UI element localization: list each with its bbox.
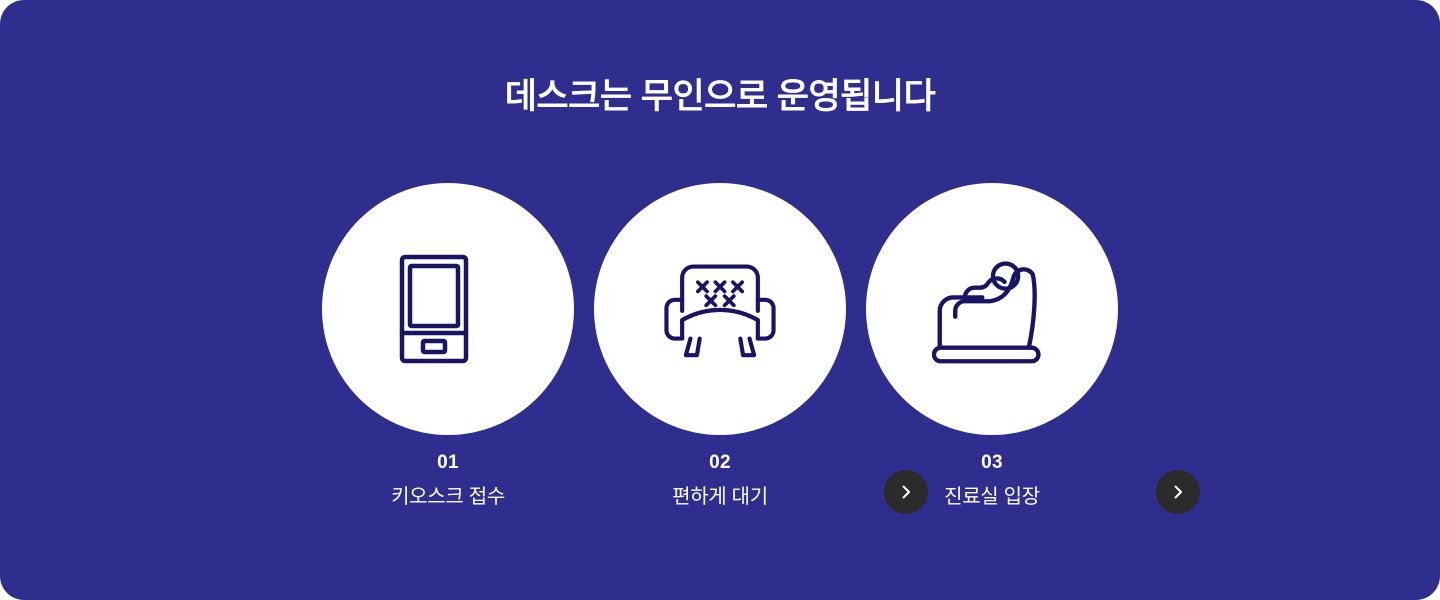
reclining-chair-icon (932, 249, 1052, 369)
connector-arrow-2[interactable] (1156, 470, 1200, 514)
connector-arrow-1[interactable] (884, 470, 928, 514)
step-label-2: 편하게 대기 (594, 482, 846, 512)
page-title: 데스크는 무인으로 운영됩니다 (0, 76, 1440, 118)
step-label-1: 키오스크 접수 (322, 482, 574, 512)
step-item-3[interactable]: 03 진료실 입장 (866, 183, 1118, 512)
step-item-2[interactable]: 02 편하게 대기 (594, 183, 846, 512)
chevron-right-icon (898, 484, 914, 500)
step-number-1: 01 (322, 449, 574, 477)
step-circle-2 (594, 183, 846, 435)
kiosk-icon (388, 249, 508, 369)
step-number-2: 02 (594, 449, 846, 477)
step-item-1[interactable]: 01 키오스크 접수 (322, 183, 574, 512)
sofa-icon (660, 249, 780, 369)
step-caption-2: 02 편하게 대기 (594, 449, 846, 512)
step-circle-3 (866, 183, 1118, 435)
steps-row: 01 키오스크 접수 (322, 183, 1118, 523)
process-steps-banner: 데스크는 무인으로 운영됩니다 01 키오스크 접수 (0, 0, 1440, 600)
step-circle-1 (322, 183, 574, 435)
step-caption-1: 01 키오스크 접수 (322, 449, 574, 512)
chevron-right-icon (1170, 484, 1186, 500)
